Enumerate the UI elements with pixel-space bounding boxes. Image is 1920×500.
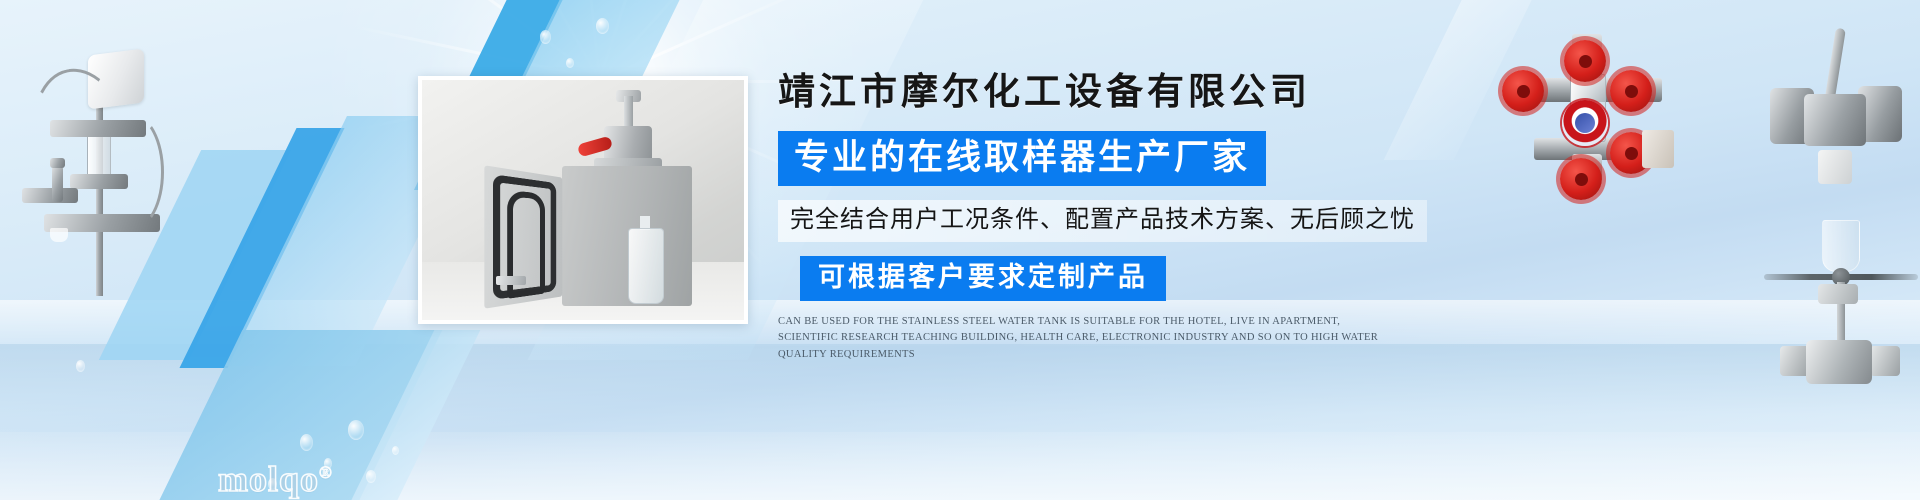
sample-cup xyxy=(50,228,68,242)
droplet-1 xyxy=(300,434,313,451)
custom-product-badge: 可根据客户要求定制产品 xyxy=(800,256,1166,301)
droplet-9 xyxy=(596,18,609,34)
gate-bonnet xyxy=(1818,284,1858,304)
fineprint-paragraph: CAN BE USED FOR THE STAINLESS STEEL WATE… xyxy=(778,314,1382,364)
handwheel-top xyxy=(1564,40,1606,82)
lower-hose xyxy=(102,114,164,230)
stripe-mid-b xyxy=(179,128,344,368)
drain-block xyxy=(1642,130,1674,168)
gate-sample-bottle xyxy=(1822,220,1860,272)
product-image-lever-valve xyxy=(1766,24,1916,204)
sample-bottle xyxy=(628,228,664,304)
droplet-8 xyxy=(566,58,574,68)
droplet-4 xyxy=(366,470,376,483)
lever-valve-body xyxy=(1804,94,1866,146)
watermark-text: molqo xyxy=(218,459,319,499)
brand-seal-core xyxy=(1575,113,1595,133)
valve-stem xyxy=(624,96,633,130)
product-image-sampling-assembly xyxy=(10,28,160,296)
droplet-10 xyxy=(76,360,85,372)
lever-valve-outlet xyxy=(1818,150,1852,184)
company-name: 靖江市摩尔化工设备有限公司 xyxy=(778,72,1418,115)
handwheel-bottom xyxy=(1560,158,1602,200)
lever-handle xyxy=(1824,28,1846,105)
gate-end-right xyxy=(1870,346,1900,376)
watermark-logo: molqo® xyxy=(218,458,333,500)
droplet-7 xyxy=(540,30,551,44)
headline-badge: 专业的在线取样器生产厂家 xyxy=(778,131,1266,186)
stripe-bottom-edge xyxy=(342,330,481,500)
droplet-3 xyxy=(348,420,364,440)
door-latch xyxy=(496,276,526,285)
handwheel-right xyxy=(1610,70,1652,112)
promo-banner: 靖江市摩尔化工设备有限公司 专业的在线取样器生产厂家 完全结合用户工况条件、配置… xyxy=(0,0,1920,500)
product-image-cross-valve-manifold xyxy=(1486,34,1698,174)
handwheel-left xyxy=(1502,70,1544,112)
registered-mark-icon: ® xyxy=(319,463,333,482)
gate-valve-body xyxy=(1806,340,1872,384)
product-photo-card[interactable] xyxy=(418,76,748,324)
product-image-gate-valve xyxy=(1766,228,1916,408)
cabinet-door xyxy=(484,165,562,309)
brand-seal-badge xyxy=(1562,100,1608,146)
stainless-cabinet xyxy=(562,166,692,306)
copy-block: 靖江市摩尔化工设备有限公司 专业的在线取样器生产厂家 完全结合用户工况条件、配置… xyxy=(778,72,1418,363)
product-photo xyxy=(422,80,744,320)
droplet-5 xyxy=(392,446,399,455)
subline-text: 完全结合用户工况条件、配置产品技术方案、无后顾之忧 xyxy=(778,200,1427,242)
